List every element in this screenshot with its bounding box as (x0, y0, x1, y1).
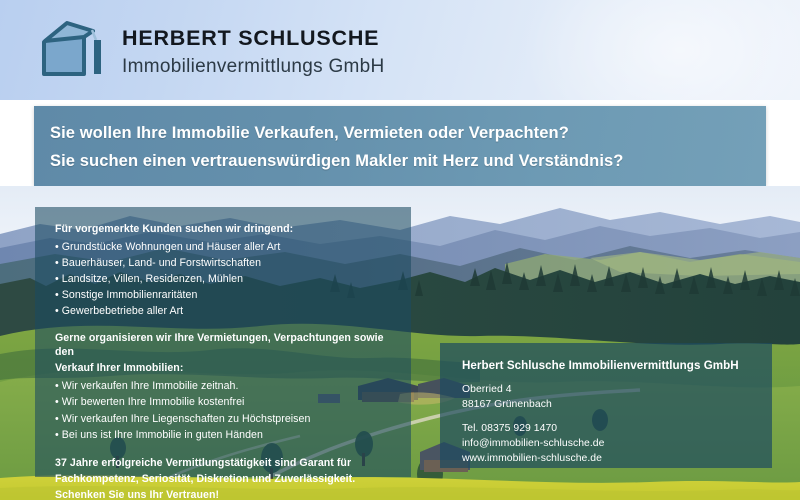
flyer-card: HERBERT SCHLUSCHE Immobilienvermittlungs… (0, 0, 800, 500)
contact-website[interactable]: www.immobilien-schlusche.de (462, 451, 756, 466)
list-item: Wir bewerten Ihre Immobilie kostenfrei (55, 394, 393, 410)
services-section-wanted: Für vorgemerkte Kunden suchen wir dringe… (55, 223, 393, 319)
contact-company-name: Herbert Schlusche Immobilienvermittlungs… (462, 358, 756, 373)
list-item: Wir verkaufen Ihre Immobilie zeitnah. (55, 378, 393, 394)
section-heading-offers-line-2: Verkauf Ihrer Immobilien: (55, 362, 393, 376)
brand-block: HERBERT SCHLUSCHE Immobilienvermittlungs… (122, 27, 385, 78)
contact-phone[interactable]: Tel. 08375 929 1470 (462, 421, 756, 436)
section-heading-offers-line-1: Gerne organisieren wir Ihre Vermietungen… (55, 332, 393, 360)
headline-line-1: Sie wollen Ihre Immobilie Verkaufen, Ver… (50, 124, 569, 143)
closing-line-2: Fachkompetenz, Seriosität, Diskretion un… (55, 472, 393, 488)
closing-line-3: Schenken Sie uns Ihr Vertrauen! (55, 488, 393, 500)
list-item: Bauerhäuser, Land- und Forstwirtschaften (55, 255, 393, 271)
list-item: Sonstige Immobilienraritäten (55, 287, 393, 303)
contact-street: Oberried 4 (462, 382, 756, 397)
services-section-closing: 37 Jahre erfolgreiche Vermittlungstätigk… (55, 456, 393, 500)
headline-banner: Sie wollen Ihre Immobilie Verkaufen, Ver… (34, 106, 766, 186)
contact-email[interactable]: info@immobilien-schlusche.de (462, 436, 756, 451)
contact-city: 88167 Grünenbach (462, 397, 756, 412)
contact-panel: Herbert Schlusche Immobilienvermittlungs… (440, 343, 772, 468)
house-logo-icon (36, 18, 110, 78)
section-heading-wanted: Für vorgemerkte Kunden suchen wir dringe… (55, 223, 393, 237)
list-item: Wir verkaufen Ihre Liegenschaften zu Höc… (55, 411, 393, 427)
headline-line-2: Sie suchen einen vertrauenswürdigen Makl… (50, 152, 623, 171)
company-name: HERBERT SCHLUSCHE (122, 27, 385, 51)
contact-spacer (462, 412, 756, 421)
services-section-offers: Gerne organisieren wir Ihre Vermietungen… (55, 332, 393, 442)
list-item: Landsitze, Villen, Residenzen, Mühlen (55, 271, 393, 287)
header-bar: HERBERT SCHLUSCHE Immobilienvermittlungs… (0, 0, 800, 100)
closing-line-1: 37 Jahre erfolgreiche Vermittlungstätigk… (55, 456, 393, 472)
services-panel: Für vorgemerkte Kunden suchen wir dringe… (35, 207, 411, 477)
list-item: Bei uns ist Ihre Immobilie in guten Händ… (55, 427, 393, 443)
list-item: Grundstücke Wohnungen und Häuser aller A… (55, 239, 393, 255)
list-item: Gewerbebetriebe aller Art (55, 303, 393, 319)
wanted-list: Grundstücke Wohnungen und Häuser aller A… (55, 239, 393, 319)
offers-list: Wir verkaufen Ihre Immobilie zeitnah. Wi… (55, 378, 393, 442)
company-subtitle: Immobilienvermittlungs GmbH (122, 55, 385, 79)
